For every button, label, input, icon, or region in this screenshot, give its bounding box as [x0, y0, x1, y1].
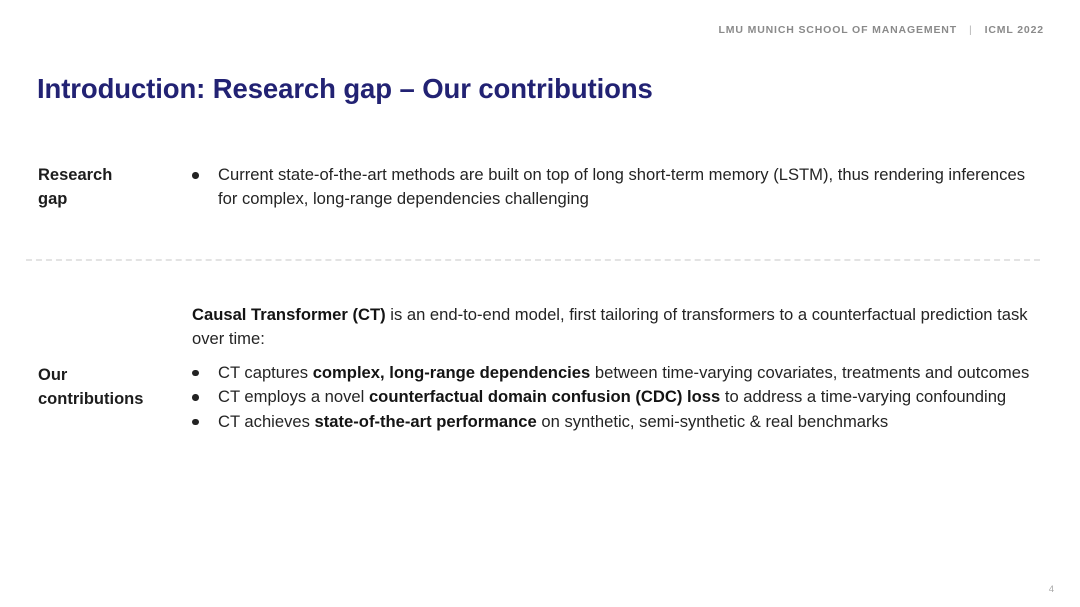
slide: LMU MUNICH SCHOOL OF MANAGEMENT | ICML 2… — [0, 0, 1080, 607]
bullet-dot-icon — [192, 172, 199, 179]
text-bold: state-of-the-art performance — [315, 412, 537, 431]
bullet-dot-icon — [192, 394, 199, 401]
list-item: CT achieves state-of-the-art performance… — [183, 410, 1050, 434]
section-label-line: Our — [38, 366, 67, 384]
text-normal: on synthetic, semi-synthetic & real benc… — [537, 412, 888, 431]
list-item: Current state-of-the-art methods are bui… — [183, 163, 1048, 212]
section-divider — [26, 259, 1040, 261]
section-label-research-gap: Research gap — [38, 163, 183, 212]
section-label-line: contributions — [38, 390, 143, 408]
text-normal: Current state-of-the-art methods are bui… — [218, 165, 1025, 208]
section-research-gap: Research gap Current state-of-the-art me… — [38, 163, 1048, 212]
bullet-dot-icon — [192, 419, 199, 426]
text-bold: complex, long-range dependencies — [313, 363, 591, 382]
text-bold: Causal Transformer (CT) — [192, 305, 386, 324]
contributions-lead-paragraph: Causal Transformer (CT) is an end-to-end… — [183, 303, 1050, 352]
page-number: 4 — [1049, 584, 1054, 595]
bullet-list-our-contributions: CT captures complex, long-range dependen… — [183, 361, 1050, 434]
page-title: Introduction: Research gap – Our contrib… — [37, 73, 653, 105]
section-body-our-contributions: Causal Transformer (CT) is an end-to-end… — [183, 303, 1050, 434]
bullet-list-research-gap: Current state-of-the-art methods are bui… — [183, 163, 1048, 212]
section-label-our-contributions: Our contributions — [38, 303, 183, 412]
section-label-line: gap — [38, 190, 67, 208]
text-normal: CT captures — [218, 363, 313, 382]
section-body-research-gap: Current state-of-the-art methods are bui… — [183, 163, 1048, 212]
section-label-line: Research — [38, 166, 112, 184]
text-normal: to address a time-varying confounding — [720, 387, 1006, 406]
header-separator: | — [966, 24, 976, 36]
text-normal: between time-varying covariates, treatme… — [590, 363, 1029, 382]
bullet-dot-icon — [192, 370, 199, 377]
header-venue: ICML 2022 — [985, 24, 1044, 36]
list-item: CT captures complex, long-range dependen… — [183, 361, 1050, 385]
text-normal: CT achieves — [218, 412, 315, 431]
header-institution: LMU MUNICH SCHOOL OF MANAGEMENT — [719, 24, 957, 36]
section-our-contributions: Our contributions Causal Transformer (CT… — [38, 303, 1050, 434]
text-bold: counterfactual domain confusion (CDC) lo… — [369, 387, 720, 406]
slide-header-meta: LMU MUNICH SCHOOL OF MANAGEMENT | ICML 2… — [719, 24, 1044, 36]
list-item: CT employs a novel counterfactual domain… — [183, 385, 1050, 409]
text-normal: CT employs a novel — [218, 387, 369, 406]
